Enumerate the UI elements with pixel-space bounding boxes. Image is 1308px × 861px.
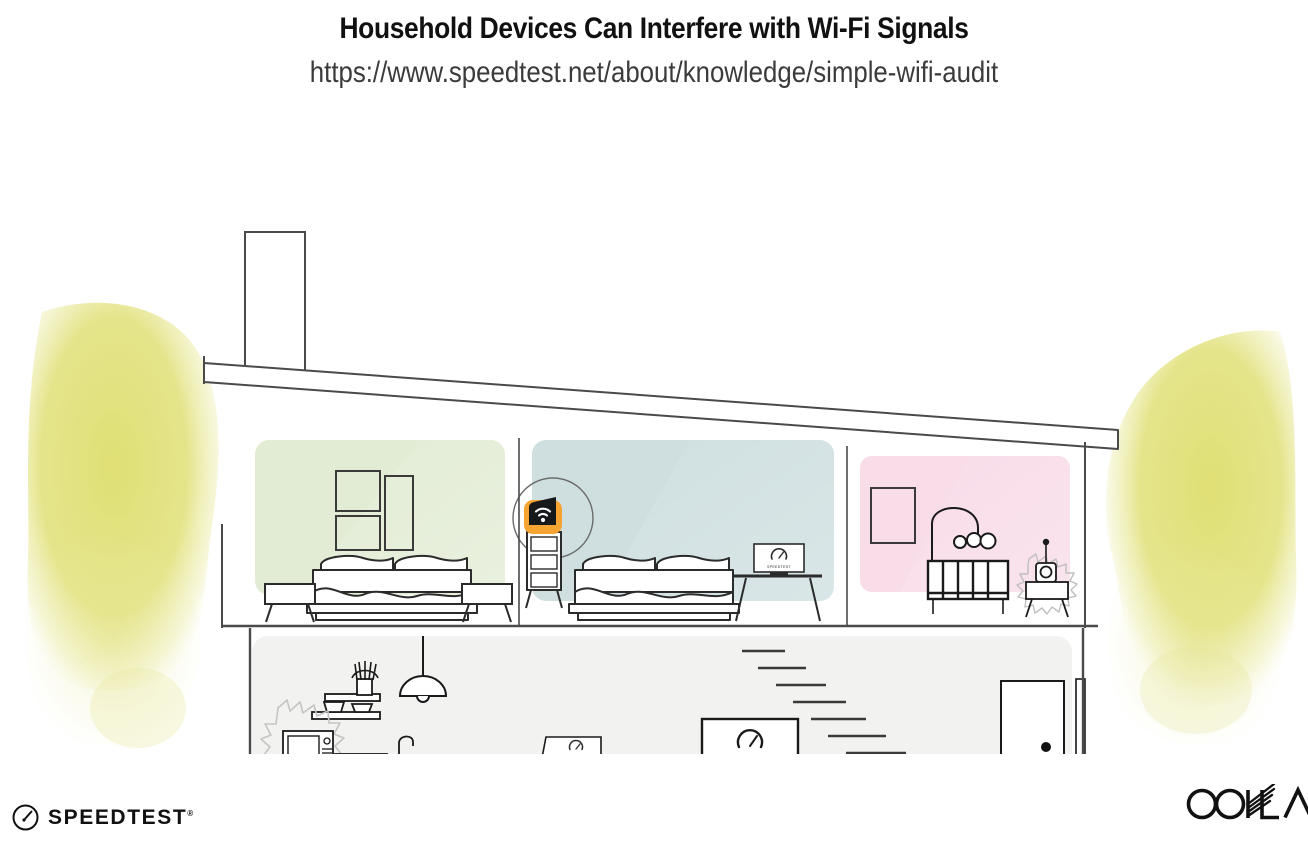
speedtest-logo[interactable]: SPEEDTEST® xyxy=(12,804,193,831)
door-knob-icon[interactable] xyxy=(1041,742,1051,752)
infographic-root: Household Devices Can Interfere with Wi-… xyxy=(0,0,1308,861)
front-door[interactable] xyxy=(1001,681,1064,754)
bed-center xyxy=(569,556,739,620)
ookla-wordmark-icon xyxy=(1182,784,1308,824)
footer: SPEEDTEST® xyxy=(0,771,1308,861)
nightstand-left xyxy=(265,584,315,622)
side-table xyxy=(1026,582,1068,617)
roof xyxy=(204,356,1118,449)
chimney xyxy=(245,232,305,372)
room-ground-floor: SPEEDTEST xyxy=(252,636,1085,754)
house-svg: SPEEDTEST xyxy=(0,104,1308,754)
speedtest-trademark: ® xyxy=(187,809,193,818)
source-url: https://www.speedtest.net/about/knowledg… xyxy=(92,54,1217,92)
bed-left xyxy=(307,556,477,620)
nightstand-right xyxy=(462,584,512,622)
wifi-router xyxy=(524,497,562,534)
room-nursery xyxy=(860,456,1077,617)
crib xyxy=(928,561,1008,614)
house-illustration: SPEEDTEST xyxy=(0,104,1308,754)
monitor-screen-label: SPEEDTEST xyxy=(767,565,792,569)
ookla-logo[interactable] xyxy=(1182,784,1308,829)
television: SPEEDTEST xyxy=(702,719,798,754)
speedtest-wordmark: SPEEDTEST® xyxy=(48,807,193,828)
speedometer-icon-logo xyxy=(12,804,39,831)
room-center-bedroom: SPEEDTEST xyxy=(513,440,834,621)
speedtest-wordmark-text: SPEEDTEST xyxy=(48,806,187,829)
page-title: Household Devices Can Interfere with Wi-… xyxy=(78,10,1229,48)
monitor: SPEEDTEST xyxy=(754,544,804,575)
header: Household Devices Can Interfere with Wi-… xyxy=(0,0,1308,91)
laptop: SPEEDTEST xyxy=(541,737,601,754)
room-left-bedroom xyxy=(255,440,512,622)
microwave xyxy=(283,731,333,754)
